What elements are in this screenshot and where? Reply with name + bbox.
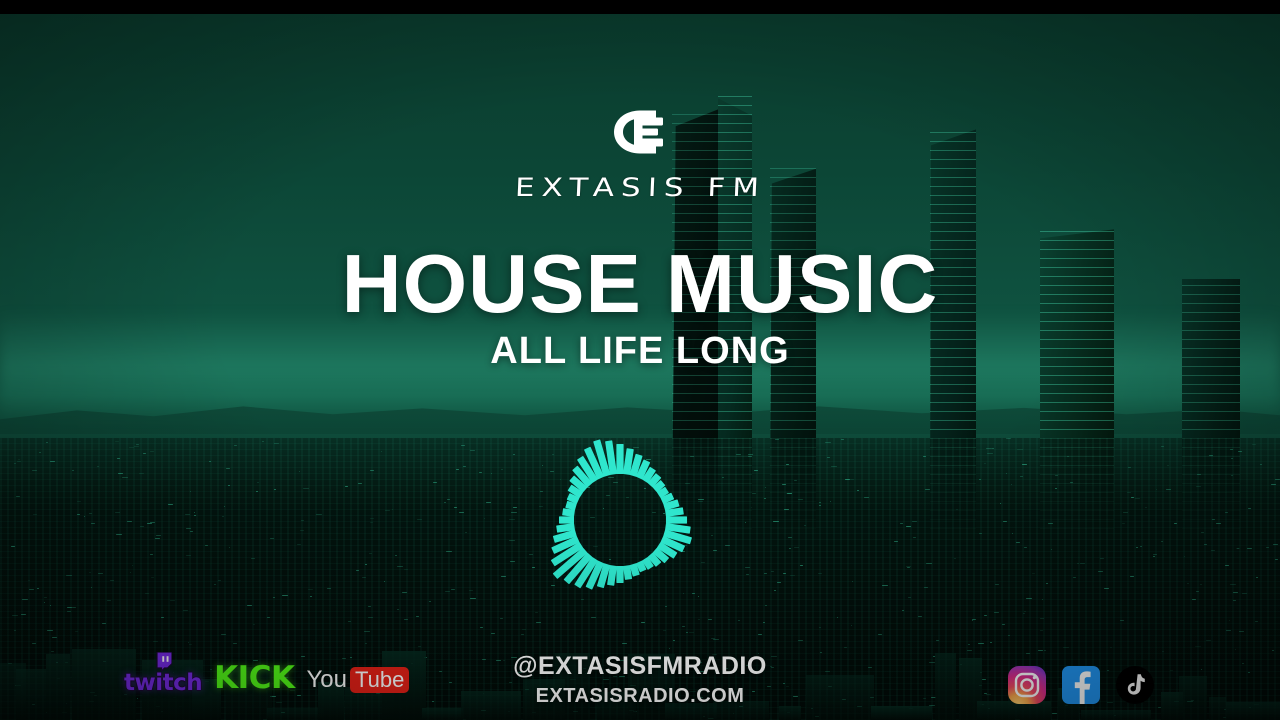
circular-audio-visualizer bbox=[510, 410, 730, 630]
brand-wordmark: EXTASIS FM bbox=[514, 173, 766, 203]
page-title: HOUSE MUSIC bbox=[0, 244, 1280, 324]
facebook-icon[interactable] bbox=[1062, 666, 1100, 704]
visualizer-bar bbox=[616, 444, 623, 474]
instagram-icon[interactable] bbox=[1008, 666, 1046, 704]
youtube-logo[interactable]: You Tube bbox=[306, 667, 409, 693]
page-subtitle: ALL LIFE LONG bbox=[0, 330, 1280, 373]
youtube-tube-badge: Tube bbox=[350, 667, 409, 693]
extasis-circle-e-logo-icon bbox=[609, 108, 671, 156]
kick-logo[interactable]: KICK bbox=[214, 663, 294, 694]
tiktok-icon[interactable] bbox=[1116, 666, 1154, 704]
top-letterbox-bar bbox=[0, 0, 1280, 14]
broadcast-overlay-screen: EXTASIS FM HOUSE MUSIC ALL LIFE LONG @EX… bbox=[0, 0, 1280, 720]
twitch-icon bbox=[155, 652, 172, 671]
brand-lockup: EXTASIS FM bbox=[0, 108, 1280, 206]
twitch-wordmark: twitch bbox=[124, 672, 202, 695]
social-network-icons bbox=[1008, 666, 1154, 704]
visualizer-bar bbox=[616, 566, 623, 583]
headline-block: HOUSE MUSIC ALL LIFE LONG bbox=[0, 244, 1280, 373]
visualizer-bar bbox=[666, 516, 687, 523]
visualizer-bar bbox=[559, 516, 574, 523]
streaming-platform-logos: twitch KICK You Tube bbox=[124, 652, 409, 695]
youtube-you-text: You bbox=[306, 668, 347, 692]
twitch-logo[interactable]: twitch bbox=[124, 652, 202, 695]
